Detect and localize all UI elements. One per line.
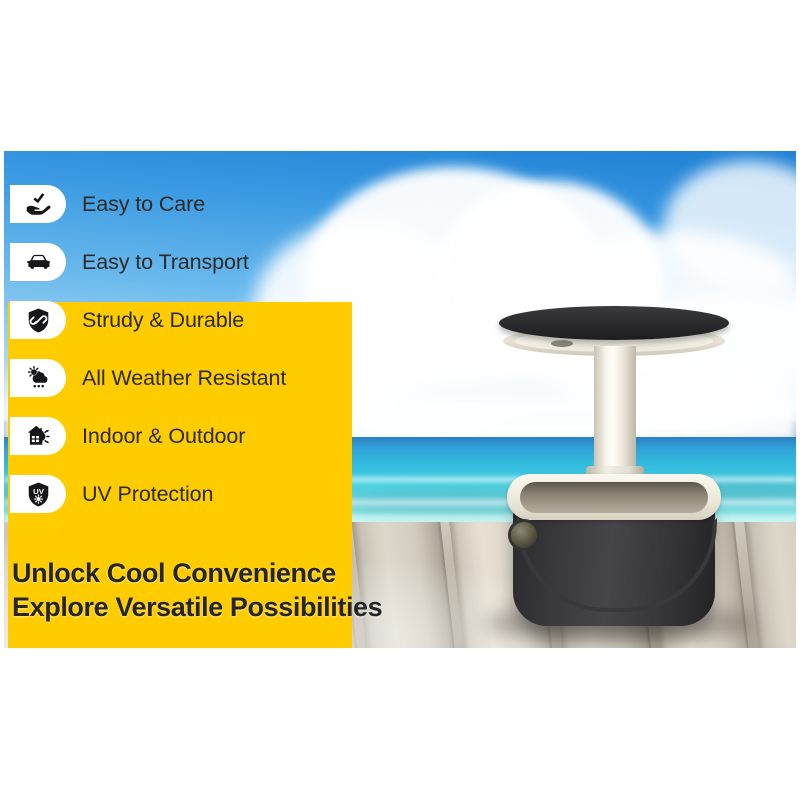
cooler-bin [507, 474, 721, 626]
feature-item: Easy to Care [10, 185, 205, 223]
shield-link-icon [10, 301, 66, 339]
feature-label: Easy to Transport [82, 250, 249, 275]
feature-item: Easy to Transport [10, 243, 249, 281]
car-icon [10, 243, 66, 281]
tagline-line-2: Explore Versatile Possibilities [12, 590, 482, 624]
feature-item: Indoor & Outdoor [10, 417, 245, 455]
feature-item: Strudy & Durable [10, 301, 244, 339]
feature-label: All Weather Resistant [82, 366, 286, 391]
feature-item: All Weather Resistant [10, 359, 286, 397]
feature-label: Strudy & Durable [82, 308, 244, 333]
hand-check-icon [10, 185, 66, 223]
house-sun-icon [10, 417, 66, 455]
feature-label: UV Protection [82, 482, 213, 507]
feature-item: UV UV Protection [10, 475, 213, 513]
tagline-line-1: Unlock Cool Convenience [12, 556, 482, 590]
shield-uv-icon: UV [10, 475, 66, 513]
table-top [499, 306, 729, 340]
table-post [594, 346, 636, 482]
drain-knob-icon [511, 522, 537, 548]
feature-label: Easy to Care [82, 192, 205, 217]
tagline: Unlock Cool Convenience Explore Versatil… [12, 556, 482, 624]
sun-cloud-rain-icon [10, 359, 66, 397]
product-cooler-table [499, 306, 729, 626]
product-banner-canvas: Easy to Care Easy to Transport Strudy & … [0, 0, 800, 800]
feature-label: Indoor & Outdoor [82, 424, 245, 449]
banner-photo: Easy to Care Easy to Transport Strudy & … [4, 151, 796, 648]
